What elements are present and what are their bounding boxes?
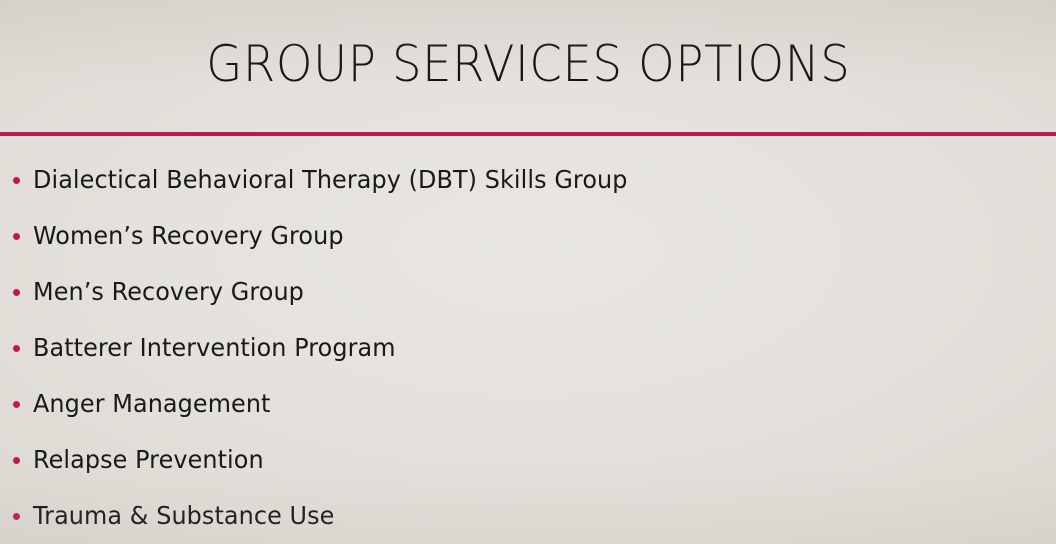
list-item: Women’s Recovery Group	[0, 208, 1056, 264]
list-item-label: Relapse Prevention	[33, 446, 264, 474]
bullet-dot-icon	[13, 289, 20, 296]
list-item-label: Women’s Recovery Group	[33, 222, 344, 250]
presentation-slide: GROUP SERVICES OPTIONS Dialectical Behav…	[0, 0, 1056, 544]
list-item: Batterer Intervention Program	[0, 320, 1056, 376]
list-item: Dialectical Behavioral Therapy (DBT) Ski…	[0, 152, 1056, 208]
page-title: GROUP SERVICES OPTIONS	[206, 39, 850, 89]
title-accent-divider	[0, 132, 1056, 136]
group-services-list: Dialectical Behavioral Therapy (DBT) Ski…	[0, 152, 1056, 544]
list-item-label: Men’s Recovery Group	[33, 278, 304, 306]
bullet-dot-icon	[13, 177, 20, 184]
bullet-dot-icon	[13, 513, 20, 520]
list-item: Men’s Recovery Group	[0, 264, 1056, 320]
bullet-dot-icon	[13, 345, 20, 352]
bullet-dot-icon	[13, 457, 20, 464]
list-item-label: Anger Management	[33, 390, 271, 418]
list-item: Trauma & Substance Use	[0, 488, 1056, 544]
list-item-label: Dialectical Behavioral Therapy (DBT) Ski…	[33, 166, 628, 194]
list-item: Relapse Prevention	[0, 432, 1056, 488]
bullet-dot-icon	[13, 233, 20, 240]
slide-title-area: GROUP SERVICES OPTIONS	[0, 0, 1056, 133]
list-item: Anger Management	[0, 376, 1056, 432]
list-item-label: Batterer Intervention Program	[33, 334, 396, 362]
list-item-label: Trauma & Substance Use	[33, 502, 334, 530]
bullet-dot-icon	[13, 401, 20, 408]
